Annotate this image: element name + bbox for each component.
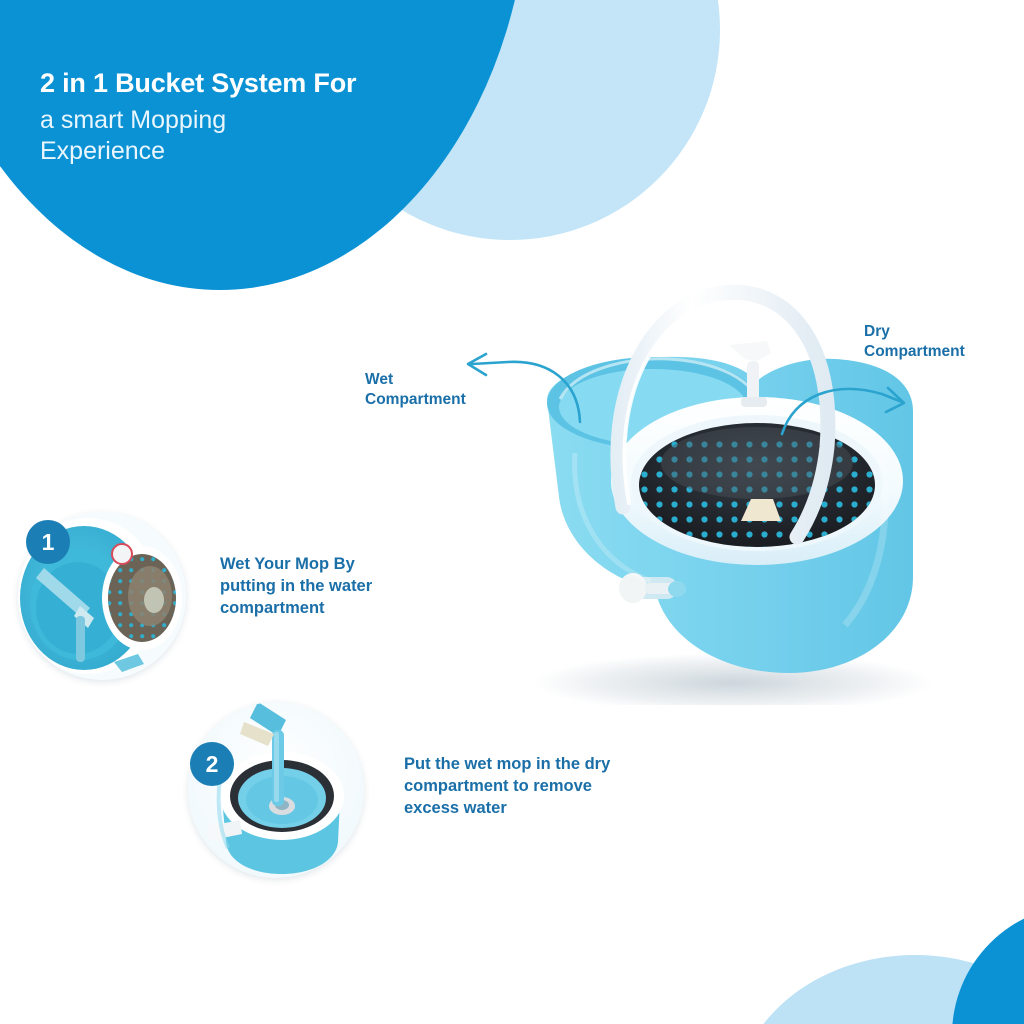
bucket-svg bbox=[505, 185, 935, 705]
arrow-left-curved-icon bbox=[452, 352, 582, 429]
dry-compartment-label: DryCompartment bbox=[864, 323, 965, 360]
header-text-block: 2 in 1 Bucket System For a smart Mopping… bbox=[40, 68, 460, 166]
dry-compartment-callout: DryCompartment bbox=[864, 322, 965, 362]
page-title: 2 in 1 Bucket System For bbox=[40, 68, 460, 99]
step-1-badge: 1 bbox=[26, 520, 70, 564]
step-2-text: Put the wet mop in the dry compartment t… bbox=[404, 754, 639, 820]
page-subtitle: a smart MoppingExperience bbox=[40, 105, 460, 166]
step-2-badge: 2 bbox=[190, 742, 234, 786]
step-1-block: 1 Wet Your Mop By putting in the water c… bbox=[18, 512, 186, 680]
wet-compartment-label: WetCompartment bbox=[365, 371, 466, 408]
step-2-number: 2 bbox=[206, 751, 219, 778]
spin-mop-bucket-illustration bbox=[505, 185, 935, 705]
step-1-text: Wet Your Mop By putting in the water com… bbox=[220, 554, 410, 620]
arrow-right-curved-icon bbox=[780, 372, 916, 443]
step-1-number: 1 bbox=[42, 529, 55, 556]
product-infographic: 2 in 1 Bucket System For a smart Mopping… bbox=[0, 0, 1024, 1024]
mop-in-spinner-photo bbox=[188, 702, 364, 878]
wet-compartment-callout: WetCompartment bbox=[365, 370, 466, 410]
step-2-block: 2 Put the wet mop in the dry compartment… bbox=[188, 702, 364, 878]
